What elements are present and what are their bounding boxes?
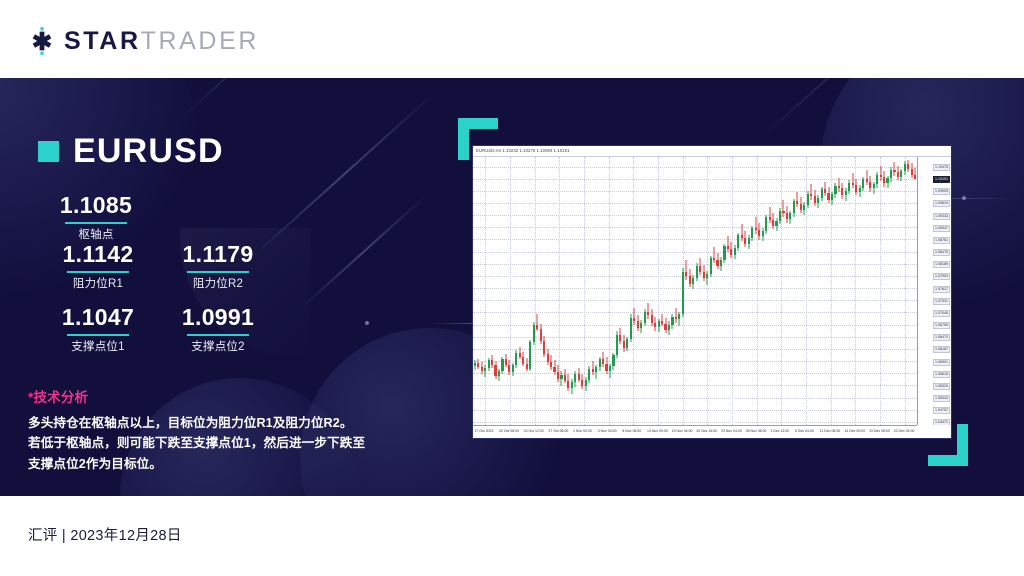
chart-candle [609, 157, 611, 425]
analysis-line-1: 多头持仓在枢轴点以上，目标位为阻力位R1及阻力位R2。 [28, 413, 400, 433]
chart-price-label: 1.08189 [933, 261, 950, 268]
chart-price-label: 1.08761 [933, 237, 950, 244]
chart-candle [880, 157, 882, 425]
chart-candle [775, 157, 777, 425]
chart-candle [869, 157, 871, 425]
chart-candle [827, 157, 829, 425]
chart-time-label: 1 Dec 12:00 [770, 429, 789, 434]
s1-label: 支撑点位1 [46, 340, 150, 355]
chart-candle [734, 157, 736, 425]
chart-candle [678, 157, 680, 425]
chart-candle [567, 157, 569, 425]
chart-candle [765, 157, 767, 425]
chart-candle [737, 157, 739, 425]
chart-time-label: 6 Dec 04:00 [795, 429, 814, 434]
r1-underline [67, 271, 129, 273]
brand-name-light: TRADER [141, 27, 259, 55]
chart-price-label: 1.09333 [933, 213, 950, 220]
chart-price-label: 1.09047 [933, 225, 950, 232]
footer-text: 汇评 | 2023年12月28日 [28, 526, 182, 546]
chart-candle [751, 157, 753, 425]
chart-candle [845, 157, 847, 425]
chart-time-label: 20 Nov 16:00 [696, 429, 717, 434]
chart-candle [675, 157, 677, 425]
chart-time-label: 3 Nov 04:00 [598, 429, 617, 434]
chart-price-label: 1.07903 [933, 273, 950, 280]
chart-candle [914, 157, 916, 425]
chart-candle [859, 157, 861, 425]
chart-candle [543, 157, 545, 425]
chart-price-label: 1.07045 [933, 310, 950, 317]
chart-candle [481, 157, 483, 425]
chart-candle [640, 157, 642, 425]
stat-resistance-2: 1.1179 阻力位R2 [166, 242, 270, 292]
chart-candle [848, 157, 850, 425]
chart-candle [855, 157, 857, 425]
stat-pivot: 1.1085 枢轴点 [55, 193, 137, 243]
page-title: EURUSD [73, 133, 224, 169]
star-asterisk-icon [27, 26, 57, 56]
chart-candle [574, 157, 576, 425]
chart-candle [644, 157, 646, 425]
r1-label: 阻力位R1 [46, 277, 150, 292]
chart-candle [668, 157, 670, 425]
chart-candle [671, 157, 673, 425]
chart-candle [474, 157, 476, 425]
chart-candle [658, 157, 660, 425]
chart-price-label: 1.07331 [933, 298, 950, 305]
chart-candle [803, 157, 805, 425]
chart-candle [900, 157, 902, 425]
chart-time-label: 23 Nov 04:00 [721, 429, 742, 434]
chart-candle [706, 157, 708, 425]
chart-time-axis: 17 Oct 202320 Oct 08:0024 Oct 12:0027 Oc… [473, 425, 917, 438]
chart-candle [588, 157, 590, 425]
chart-candle [522, 157, 524, 425]
chart-time-label: 14 Dec 00:00 [844, 429, 865, 434]
r2-underline [187, 271, 249, 273]
chart-candle [852, 157, 854, 425]
chart-candle [682, 157, 684, 425]
chart-candle [494, 157, 496, 425]
chart-candle [890, 157, 892, 425]
chart-price-label: 1.10475 [933, 164, 950, 171]
chart-candle [838, 157, 840, 425]
chart-price-label: 1.04471 [933, 419, 950, 425]
chart-candle [893, 157, 895, 425]
chart-time-label: 19 Dec 08:00 [869, 429, 890, 434]
chart-time-label: 22 Dec 04:00 [894, 429, 915, 434]
brand-name-bold: STAR [64, 27, 141, 55]
chart-candle [876, 157, 878, 425]
chart-candle [630, 157, 632, 425]
r2-label: 阻力位R2 [166, 277, 270, 292]
chart-candle [564, 157, 566, 425]
chart-candle [692, 157, 694, 425]
chart-candle [602, 157, 604, 425]
chart-candle [595, 157, 597, 425]
chart-candle [814, 157, 816, 425]
chart-candle [713, 157, 715, 425]
chart-candle [824, 157, 826, 425]
brand-wordmark: STARTRADER [64, 26, 259, 56]
chart-time-label: 1 Nov 00:00 [573, 429, 592, 434]
chart-price-label: 1.09905 [933, 188, 950, 195]
chart-candle [623, 157, 625, 425]
chart-candle [491, 157, 493, 425]
chart-time-label: 13 Nov 00:00 [647, 429, 668, 434]
chart-candle [488, 157, 490, 425]
chart-candle [772, 157, 774, 425]
chart-candle [720, 157, 722, 425]
brand-logo: STARTRADER [27, 27, 259, 55]
chart-candle [571, 157, 573, 425]
symbol-title-row: EURUSD [38, 133, 224, 169]
chart-price-label: 1.06759 [933, 322, 950, 329]
chart-candle [553, 157, 555, 425]
chart-candle [633, 157, 635, 425]
chart-candle [557, 157, 559, 425]
chart-price-label: 1.06473 [933, 334, 950, 341]
chart-candle [526, 157, 528, 425]
chart-candle [508, 157, 510, 425]
chart-candle [866, 157, 868, 425]
chart-candle [505, 157, 507, 425]
chart-time-label: 8 Nov 08:00 [622, 429, 641, 434]
chart-candle [883, 157, 885, 425]
s2-underline [187, 334, 249, 336]
chart-candle [654, 157, 656, 425]
chart-candle [758, 157, 760, 425]
chart-header-text: EURUSD,H4 1.10232 1.10276 1.10084 1.1019… [476, 147, 570, 155]
stat-resistance-1: 1.1142 阻力位R1 [46, 242, 150, 292]
chart-candle [789, 157, 791, 425]
chart-candle [810, 157, 812, 425]
chart-candle [807, 157, 809, 425]
analysis-body: 多头持仓在枢轴点以上，目标位为阻力位R1及阻力位R2。 若低于枢轴点，则可能下跌… [28, 413, 400, 474]
analysis-line-3: 支撑点位2作为目标位。 [28, 454, 400, 474]
s2-label: 支撑点位2 [166, 340, 270, 355]
chart-candle [605, 157, 607, 425]
chart-candle [730, 157, 732, 425]
chart-candle [744, 157, 746, 425]
chart-candle [647, 157, 649, 425]
stat-support-2: 1.0991 支撑点位2 [166, 305, 270, 355]
chart-time-label: 28 Nov 08:00 [746, 429, 767, 434]
chart-candle [886, 157, 888, 425]
chart-candle [619, 157, 621, 425]
chart-candle [873, 157, 875, 425]
chart-candle [703, 157, 705, 425]
chart-time-label: 27 Oct 08:00 [548, 429, 568, 434]
chart-price-label: 1.07617 [933, 286, 950, 293]
chart-candle [796, 157, 798, 425]
chart-candle [793, 157, 795, 425]
chart-candle [834, 157, 836, 425]
chart-candle [651, 157, 653, 425]
chart-candle [699, 157, 701, 425]
chart-candle [547, 157, 549, 425]
r1-value: 1.1142 [46, 242, 150, 266]
chart-candle [897, 157, 899, 425]
chart-candle [727, 157, 729, 425]
chart-candle [585, 157, 587, 425]
chart-candle [689, 157, 691, 425]
chart-time-label: 20 Oct 08:00 [499, 429, 519, 434]
chart-candle [519, 157, 521, 425]
chart-candle [616, 157, 618, 425]
pivot-value: 1.1085 [55, 193, 137, 217]
chart-candle [664, 157, 666, 425]
poster-page: STARTRADER [0, 0, 1024, 576]
candlestick-chart[interactable]: EURUSD,H4 1.10232 1.10276 1.10084 1.1019… [472, 145, 952, 439]
title-accent-square [38, 141, 59, 162]
chart-candle [907, 157, 909, 425]
chart-plot-area[interactable] [473, 157, 917, 425]
chart-time-label: 17 Oct 2023 [474, 429, 493, 434]
chart-candle [560, 157, 562, 425]
chart-candle [817, 157, 819, 425]
analysis-heading: *技术分析 [28, 389, 400, 408]
chart-candle [748, 157, 750, 425]
chart-candle [599, 157, 601, 425]
chart-candle [779, 157, 781, 425]
chart-candle [661, 157, 663, 425]
s1-value: 1.1047 [46, 305, 150, 329]
s2-value: 1.0991 [166, 305, 270, 329]
chart-time-label: 24 Oct 12:00 [524, 429, 544, 434]
chart-candle [685, 157, 687, 425]
chart-header-bar: EURUSD,H4 1.10232 1.10276 1.10084 1.1019… [473, 146, 951, 157]
chart-candle [612, 157, 614, 425]
chart-candle [515, 157, 517, 425]
analysis-line-2: 若低于枢轴点，则可能下跌至支撑点位1，然后进一步下跌至 [28, 433, 400, 453]
chart-candle [477, 157, 479, 425]
chart-candle [800, 157, 802, 425]
stat-support-1: 1.1047 支撑点位1 [46, 305, 150, 355]
chart-candle [501, 157, 503, 425]
chart-candle [484, 157, 486, 425]
chart-candle [831, 157, 833, 425]
chart-price-label: 1.06187 [933, 346, 950, 353]
chart-candle [786, 157, 788, 425]
chart-candle [741, 157, 743, 425]
s1-underline [67, 334, 129, 336]
chart-candle [782, 157, 784, 425]
chart-price-axis: 1.104751.101911.099051.096191.093331.090… [917, 157, 951, 425]
chart-candle [550, 157, 552, 425]
chart-candle [821, 157, 823, 425]
chart-time-label: 15 Nov 04:00 [672, 429, 693, 434]
chart-price-label: 1.05615 [933, 371, 950, 378]
chart-candle [512, 157, 514, 425]
chart-time-label: 11 Dec 08:00 [820, 429, 841, 434]
chart-price-label: 1.05901 [933, 359, 950, 366]
chart-candle [540, 157, 542, 425]
chart-candle [755, 157, 757, 425]
chart-candle [862, 157, 864, 425]
chart-price-label: 1.08475 [933, 249, 950, 256]
chart-price-label: 1.10191 [933, 176, 950, 183]
chart-candle [904, 157, 906, 425]
chart-candle [529, 157, 531, 425]
chart-candle [841, 157, 843, 425]
chart-candle [696, 157, 698, 425]
chart-candle [498, 157, 500, 425]
r2-value: 1.1179 [166, 242, 270, 266]
chart-candle [723, 157, 725, 425]
chart-price-label: 1.04757 [933, 407, 950, 414]
chart-candle [911, 157, 913, 425]
page-header: STARTRADER [0, 0, 1024, 78]
chart-candle [536, 157, 538, 425]
chart-candle [716, 157, 718, 425]
chart-candle [637, 157, 639, 425]
chart-candle [592, 157, 594, 425]
chart-candle [578, 157, 580, 425]
chart-candle [626, 157, 628, 425]
chart-price-label: 1.05043 [933, 395, 950, 402]
technical-analysis-block: *技术分析 多头持仓在枢轴点以上，目标位为阻力位R1及阻力位R2。 若低于枢轴点… [28, 389, 400, 474]
chart-candle [762, 157, 764, 425]
chart-candle [533, 157, 535, 425]
chart-candle [581, 157, 583, 425]
chart-candle [710, 157, 712, 425]
chart-candle [769, 157, 771, 425]
pivot-underline [65, 222, 127, 224]
chart-price-label: 1.09619 [933, 200, 950, 207]
chart-price-label: 1.05329 [933, 383, 950, 390]
